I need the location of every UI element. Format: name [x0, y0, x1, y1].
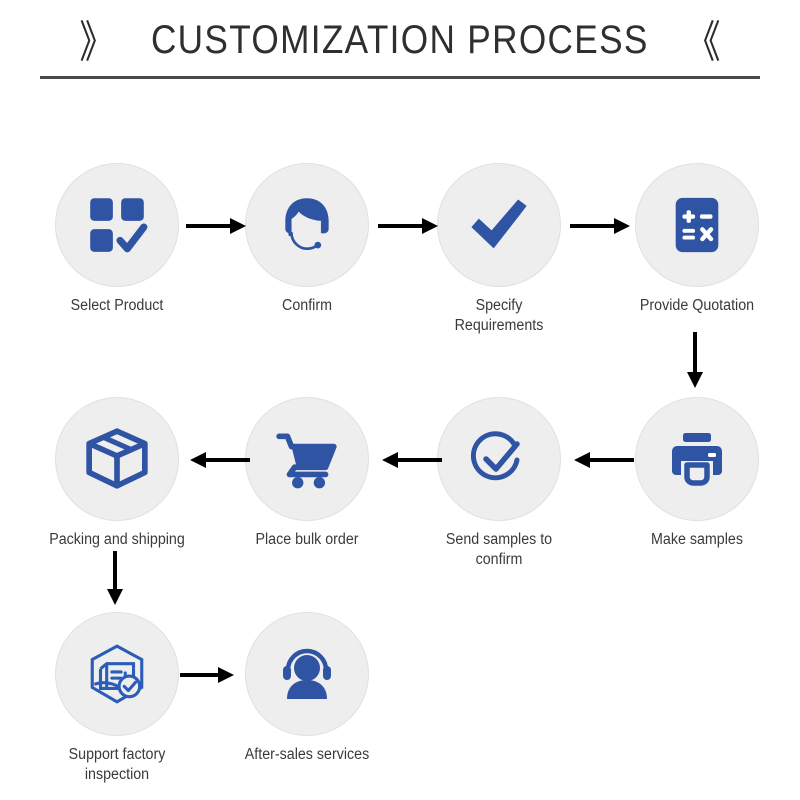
step-label: Make samples — [628, 530, 766, 550]
process-step-confirm[interactable]: Confirm — [232, 163, 382, 316]
connector-arrow-down-2 — [104, 551, 126, 607]
connector-arrow-right-3 — [570, 215, 632, 237]
connector-arrow-left-1 — [572, 449, 634, 471]
step-label: Select Product — [48, 296, 186, 316]
step-label: Packing and shipping — [48, 530, 186, 550]
step-icon-badge — [635, 397, 759, 521]
step-icon-badge — [245, 397, 369, 521]
calculator-icon — [666, 194, 728, 256]
step-label: Support factory inspection — [48, 745, 186, 785]
grid-check-icon — [84, 192, 150, 258]
step-icon-badge — [437, 397, 561, 521]
process-step-place-bulk-order[interactable]: Place bulk order — [232, 397, 382, 550]
checkmark-icon — [465, 191, 533, 259]
step-label: Specify Requirements — [430, 296, 568, 336]
step-label: Place bulk order — [238, 530, 376, 550]
step-icon-badge — [245, 612, 369, 736]
step-label: Confirm — [238, 296, 376, 316]
process-step-packing-and-shipping[interactable]: Packing and shipping — [42, 397, 192, 550]
process-step-provide-quotation[interactable]: Provide Quotation — [622, 163, 772, 316]
connector-arrow-right-2 — [378, 215, 440, 237]
step-label: Provide Quotation — [628, 296, 766, 316]
process-step-support-factory-inspection[interactable]: Support factory inspection — [42, 612, 192, 785]
connector-arrow-down-1 — [684, 332, 706, 390]
package-box-icon — [84, 426, 150, 492]
printer-icon — [665, 427, 729, 491]
step-icon-badge — [245, 163, 369, 287]
factory-check-icon — [84, 641, 150, 707]
step-icon-badge — [635, 163, 759, 287]
step-icon-badge — [55, 612, 179, 736]
step-icon-badge — [55, 397, 179, 521]
process-flow-diagram: Select Product Confirm Specify Requireme… — [0, 0, 800, 800]
process-step-select-product[interactable]: Select Product — [42, 163, 192, 316]
connector-arrow-right-4 — [180, 664, 236, 686]
connector-arrow-right-1 — [186, 215, 248, 237]
process-step-specify-requirements[interactable]: Specify Requirements — [424, 163, 574, 336]
connector-arrow-left-2 — [380, 449, 442, 471]
support-agent-icon — [274, 192, 340, 258]
step-label: Send samples to confirm — [430, 530, 568, 570]
step-label: After-sales services — [238, 745, 376, 765]
step-icon-badge — [437, 163, 561, 287]
process-step-make-samples[interactable]: Make samples — [622, 397, 772, 550]
headset-person-icon — [275, 642, 339, 706]
circle-check-icon — [467, 427, 531, 491]
process-step-after-sales-services[interactable]: After-sales services — [232, 612, 382, 765]
shopping-cart-icon — [274, 426, 340, 492]
process-step-send-samples-to-confirm[interactable]: Send samples to confirm — [424, 397, 574, 570]
step-icon-badge — [55, 163, 179, 287]
connector-arrow-left-3 — [188, 449, 250, 471]
